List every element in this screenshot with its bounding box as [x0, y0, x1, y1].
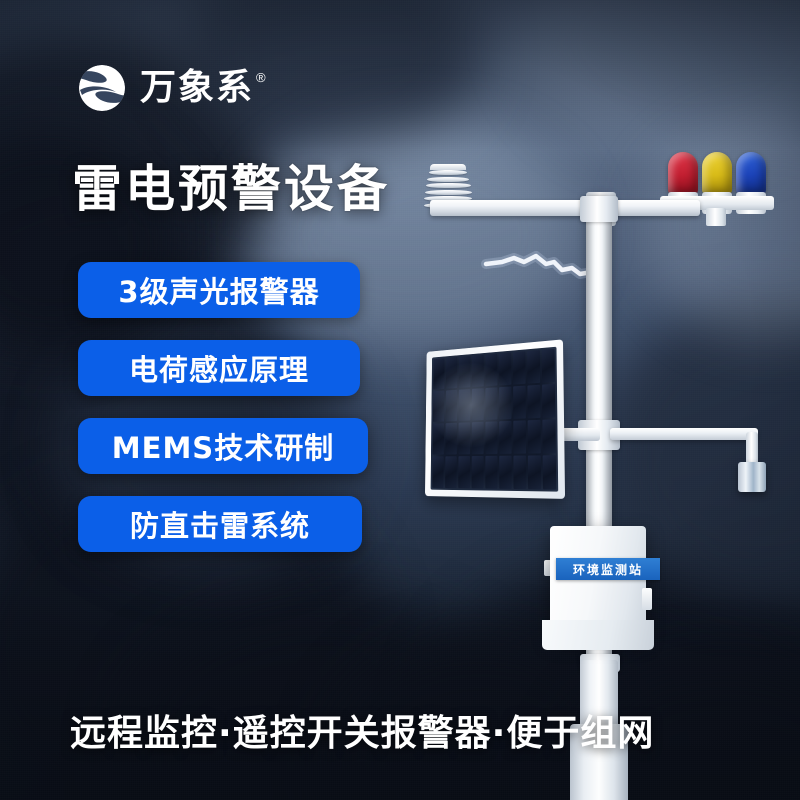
right-sensor-arm-vertical — [746, 432, 758, 466]
controller-box-lug-right — [642, 588, 652, 610]
registered-mark: ® — [256, 70, 266, 85]
radiation-shield-sensor — [424, 164, 472, 204]
solar-cell — [485, 456, 497, 489]
solar-cell — [542, 349, 555, 383]
poster-canvas: 环境监测站 万象系 ® 雷电预警设备 3级声光报警器 电荷感应原理 MEMS技术… — [0, 0, 800, 800]
red-alarm-dome — [668, 152, 698, 194]
swirl-globe-logo-icon — [76, 62, 128, 114]
solar-cell — [513, 351, 526, 384]
solar-panel-frame — [425, 339, 565, 499]
yellow-alarm-dome — [702, 152, 732, 194]
feature-pill-list: 3级声光报警器 电荷感应原理 MEMS技术研制 防直击雷系统 — [78, 262, 368, 552]
alarm-light-stem — [706, 208, 726, 226]
solar-cell — [459, 356, 471, 388]
feature-pill-1[interactable]: 3级声光报警器 — [78, 262, 360, 318]
solar-cell — [446, 357, 457, 389]
controller-box-lower-housing — [542, 620, 654, 650]
solar-cell — [513, 386, 526, 419]
brand-logo: 万象系 ® — [76, 62, 266, 114]
feature-pill-4[interactable]: 防直击雷系统 — [78, 496, 362, 552]
solar-cell — [433, 391, 444, 422]
shield-fin — [425, 190, 472, 195]
solar-cell — [472, 388, 484, 420]
solar-cell — [543, 455, 557, 489]
solar-cell — [485, 354, 497, 386]
page-title: 雷电预警设备 — [72, 162, 390, 217]
solar-cell — [433, 358, 444, 389]
solar-cell — [445, 423, 457, 455]
solar-cell — [542, 419, 555, 453]
solar-cell — [472, 456, 484, 489]
solar-cell — [472, 355, 484, 387]
brand-name: 万象系 — [140, 70, 254, 106]
cylindrical-sensor — [738, 462, 766, 492]
solar-cell — [458, 456, 470, 488]
solar-cell — [528, 420, 541, 454]
solar-cell — [527, 350, 540, 384]
solar-cell — [513, 420, 526, 453]
solar-cell — [542, 384, 555, 418]
solar-cell — [499, 456, 512, 489]
solar-cell — [499, 421, 511, 454]
mast-collar-top — [580, 196, 618, 222]
solar-panel — [404, 338, 564, 498]
solar-cell — [472, 422, 484, 454]
top-crossbar — [430, 200, 700, 216]
shield-fin — [427, 177, 469, 182]
shield-fin — [426, 183, 471, 188]
solar-cell — [499, 353, 511, 386]
footer-tagline: 远程监控·遥控开关报警器·便于组网 — [70, 704, 654, 756]
blue-alarm-dome — [736, 152, 766, 194]
solar-cell — [458, 422, 470, 454]
solar-cell — [459, 389, 471, 421]
shield-fin — [429, 170, 467, 175]
solar-cell — [485, 387, 497, 420]
solar-cell — [513, 456, 526, 490]
solar-cell — [499, 386, 511, 419]
solar-cell — [432, 456, 444, 488]
right-sensor-arm-horizontal — [610, 428, 758, 440]
solar-cell — [446, 390, 458, 422]
solar-cell-grid — [431, 347, 559, 492]
solar-cell — [433, 423, 444, 454]
solar-cell — [527, 385, 540, 419]
feature-pill-3[interactable]: MEMS技术研制 — [78, 418, 368, 474]
solar-cell — [528, 455, 541, 489]
solar-cell — [485, 421, 497, 454]
feature-pill-2[interactable]: 电荷感应原理 — [78, 340, 360, 396]
solar-cell — [445, 456, 457, 488]
